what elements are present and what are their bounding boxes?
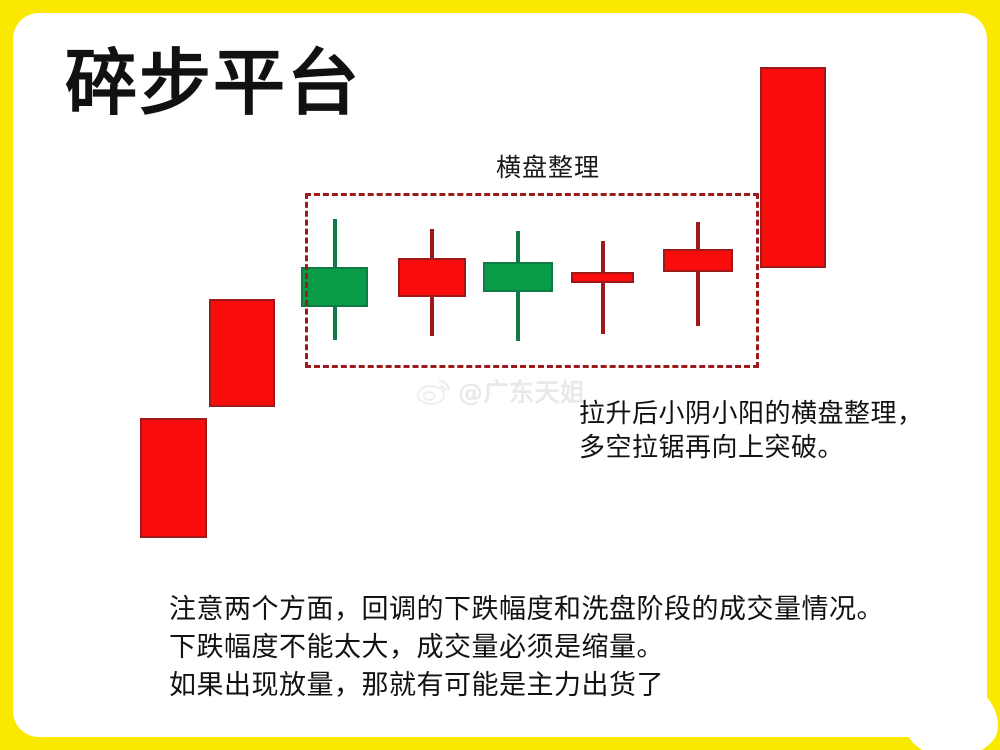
candle-body xyxy=(140,418,207,538)
consolidation-dashed-box xyxy=(305,193,759,368)
slide-frame: 碎步平台 横盘整理 @广东天姐 拉升后小阴小阳的横盘整理， 多空拉锯再向上突破。… xyxy=(0,0,1000,750)
right-annotation-text: 拉升后小阴小阳的横盘整理， 多空拉锯再向上突破。 xyxy=(579,397,924,466)
candle-body xyxy=(760,67,826,268)
candle-body xyxy=(209,299,275,407)
candle-pullback-red-1 xyxy=(140,418,207,538)
candle-rally-red-2 xyxy=(209,299,275,407)
candle-breakout-red-big xyxy=(760,67,826,268)
slide-canvas: 碎步平台 横盘整理 @广东天姐 拉升后小阴小阳的横盘整理， 多空拉锯再向上突破。… xyxy=(13,13,987,737)
consolidation-box-label: 横盘整理 xyxy=(496,148,600,184)
bottom-annotation-text: 注意两个方面，回调的下跌幅度和洗盘阶段的成交量情况。 下跌幅度不能太大，成交量必… xyxy=(169,591,884,704)
